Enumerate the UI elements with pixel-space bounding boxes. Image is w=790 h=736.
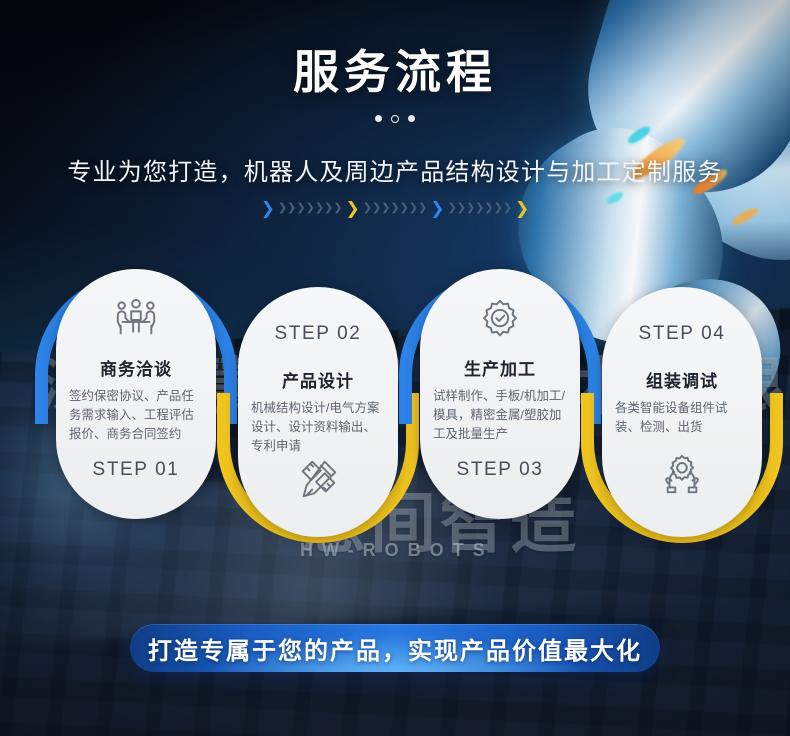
promo-banner-page: 深圳慧间智造技术有限公司 慧间智造 HW-ROBOTS 服务流程 专业为您打造，… bbox=[0, 0, 790, 736]
chevron-small-icon: ❯ bbox=[278, 203, 287, 214]
step-card-3[interactable]: 生产加工 试样制作、手板/机加工/模具，精密金属/塑胶加工及批量生产 STEP … bbox=[420, 269, 580, 519]
gear-check-icon bbox=[477, 297, 523, 343]
hands-gear-icon bbox=[659, 451, 705, 497]
chevron-small-icon: ❯ bbox=[484, 203, 493, 214]
step-card-1[interactable]: 商务洽谈 签约保密协议、产品任务需求输入、工程评估报价、商务合同签约 STEP … bbox=[56, 269, 216, 519]
step-label: STEP 03 bbox=[457, 459, 544, 481]
chevron-small-icon: ❯ bbox=[457, 203, 466, 214]
cta-banner[interactable]: 打造专属于您的产品，实现产品价值最大化 bbox=[130, 624, 660, 672]
step-title: 生产加工 bbox=[464, 355, 536, 380]
chevron-small-icon: ❯ bbox=[418, 203, 427, 214]
page-title: 服务流程 bbox=[0, 36, 790, 102]
chevron-small-icon: ❯ bbox=[324, 203, 333, 214]
chevron-divider: ❯ ❯ ❯ ❯ ❯ ❯ ❯ ❯ ❯ ❯ ❯ ❯ ❯ ❯ ❯ ❯ ❯ ❯ ❯ ❯ … bbox=[0, 200, 790, 217]
chevron-small-icon: ❯ bbox=[466, 203, 475, 214]
chevron-small-icon: ❯ bbox=[494, 203, 503, 214]
step-card-body-2[interactable]: STEP 02 产品设计 机械结构设计/电气方案设计、设计资料输出、专利申请 bbox=[238, 287, 398, 537]
meeting-people-icon bbox=[113, 297, 159, 343]
chevron-blue-icon: ❯ bbox=[261, 200, 275, 217]
chevron-small-icon: ❯ bbox=[306, 203, 315, 214]
chevron-small-icon: ❯ bbox=[448, 203, 457, 214]
step-description: 签约保密协议、产品任务需求输入、工程评估报价、商务合同签约 bbox=[69, 387, 203, 444]
step-card-2[interactable]: STEP 02 产品设计 机械结构设计/电气方案设计、设计资料输出、专利申请 bbox=[238, 287, 398, 537]
chevron-blue-icon: ❯ bbox=[430, 200, 444, 217]
title-dot-divider bbox=[0, 115, 790, 123]
chevron-small-icon: ❯ bbox=[475, 203, 484, 214]
chevron-small-icon: ❯ bbox=[381, 203, 390, 214]
step-card-4[interactable]: STEP 04 组装调试 各类智能设备组件试装、检测、出货 bbox=[602, 287, 762, 537]
step-title: 组装调试 bbox=[646, 367, 718, 392]
chevron-small-icon: ❯ bbox=[363, 203, 372, 214]
chevron-small-icon: ❯ bbox=[372, 203, 381, 214]
step-cards-container: 商务洽谈 签约保密协议、产品任务需求输入、工程评估报价、商务合同签约 STEP … bbox=[0, 255, 790, 565]
divider-dot-1 bbox=[375, 115, 382, 122]
chevron-small-icon: ❯ bbox=[333, 203, 342, 214]
cta-banner-text: 打造专属于您的产品，实现产品价值最大化 bbox=[148, 631, 642, 666]
step-description: 试样制作、手板/机加工/模具，精密金属/塑胶加工及批量生产 bbox=[433, 387, 567, 444]
chevron-small-icon: ❯ bbox=[296, 203, 305, 214]
divider-dot-2 bbox=[391, 115, 399, 123]
step-label: STEP 04 bbox=[639, 323, 726, 345]
step-label: STEP 02 bbox=[275, 323, 362, 345]
step-description: 机械结构设计/电气方案设计、设计资料输出、专利申请 bbox=[251, 399, 385, 456]
step-label: STEP 01 bbox=[93, 459, 180, 481]
pencil-ruler-icon bbox=[295, 456, 341, 502]
chevron-small-icon: ❯ bbox=[390, 203, 399, 214]
step-description: 各类智能设备组件试装、检测、出货 bbox=[615, 399, 749, 437]
chevron-small-icon: ❯ bbox=[503, 203, 512, 214]
step-card-body-4[interactable]: STEP 04 组装调试 各类智能设备组件试装、检测、出货 bbox=[602, 287, 762, 537]
step-title: 产品设计 bbox=[282, 367, 354, 392]
chevron-yellow-icon: ❯ bbox=[515, 200, 529, 217]
step-title: 商务洽谈 bbox=[100, 355, 172, 380]
step-card-body-1[interactable]: 商务洽谈 签约保密协议、产品任务需求输入、工程评估报价、商务合同签约 STEP … bbox=[56, 269, 216, 519]
page-subtitle: 专业为您打造，机器人及周边产品结构设计与加工定制服务 bbox=[0, 152, 790, 187]
chevron-small-icon: ❯ bbox=[400, 203, 409, 214]
chevron-small-icon: ❯ bbox=[315, 203, 324, 214]
divider-dot-3 bbox=[408, 115, 415, 122]
step-card-body-3[interactable]: 生产加工 试样制作、手板/机加工/模具，精密金属/塑胶加工及批量生产 STEP … bbox=[420, 269, 580, 519]
chevron-small-icon: ❯ bbox=[409, 203, 418, 214]
chevron-small-icon: ❯ bbox=[287, 203, 296, 214]
chevron-yellow-icon: ❯ bbox=[345, 200, 359, 217]
